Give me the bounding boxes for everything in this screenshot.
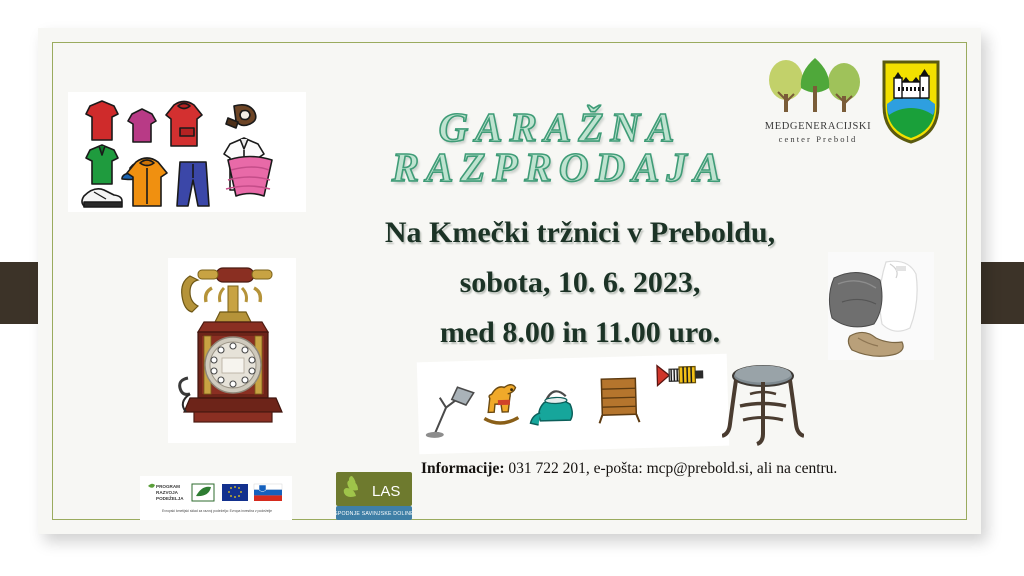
title-line-1: GARAŽNA	[300, 108, 820, 146]
prebold-coat-of-arms	[878, 56, 944, 148]
poster-title: GARAŽNA RAZPRODAJA	[300, 108, 820, 186]
announcement-line-2: sobota, 10. 6. 2023,	[330, 258, 830, 308]
antique-rotary-telephone	[168, 258, 296, 443]
clothing-illustration	[68, 92, 306, 212]
announcement-line-1: Na Kmečki tržnici v Preboldu,	[330, 208, 830, 258]
announcement-line-3: med 8.00 in 11.00 uro.	[330, 308, 830, 358]
svg-text:Evropski kmetijski sklad za ra: Evropski kmetijski sklad za razvoj podež…	[162, 509, 272, 513]
teal-kettle-icon	[530, 391, 573, 425]
las-spodnje-savinjske-doline-logo: LAS SPODNJE SAVINJSKE DOLINE	[336, 472, 412, 520]
program-razvoja-podezelja-logo: PROGRAM RAZVOJA PODEŽELJA Evropski kmeti…	[140, 476, 292, 520]
svg-text:PROGRAM: PROGRAM	[156, 484, 180, 489]
desk-lamp-icon	[434, 397, 461, 434]
contact-info-label: Informacije:	[421, 460, 505, 477]
rocking-horse-icon	[483, 385, 518, 424]
title-line-2: RAZPRODAJA	[300, 148, 820, 186]
svg-text:RAZVOJA: RAZVOJA	[156, 490, 179, 495]
poster-canvas: GARAŽNA RAZPRODAJA MEDGENERACIJSKI cente…	[0, 0, 1024, 576]
antique-side-table	[722, 358, 804, 450]
svg-text:PODEŽELJA: PODEŽELJA	[156, 494, 184, 501]
contact-info-details: 031 722 201, e-pošta: mcp@prebold.si, al…	[505, 460, 838, 477]
contact-info: Informacije: 031 722 201, e-pošta: mcp@p…	[421, 458, 841, 480]
second-hand-items-strip	[417, 354, 729, 455]
folded-clothes-photo	[828, 252, 934, 360]
announcement-text: Na Kmečki tržnici v Preboldu, sobota, 10…	[330, 208, 830, 358]
wooden-dresser-icon	[598, 378, 639, 423]
svg-text:LAS: LAS	[372, 483, 400, 500]
svg-text:SPODNJE SAVINJSKE DOLINE: SPODNJE SAVINJSKE DOLINE	[336, 511, 412, 517]
toy-gramophone-icon	[657, 364, 704, 385]
trees-icon	[769, 58, 860, 112]
